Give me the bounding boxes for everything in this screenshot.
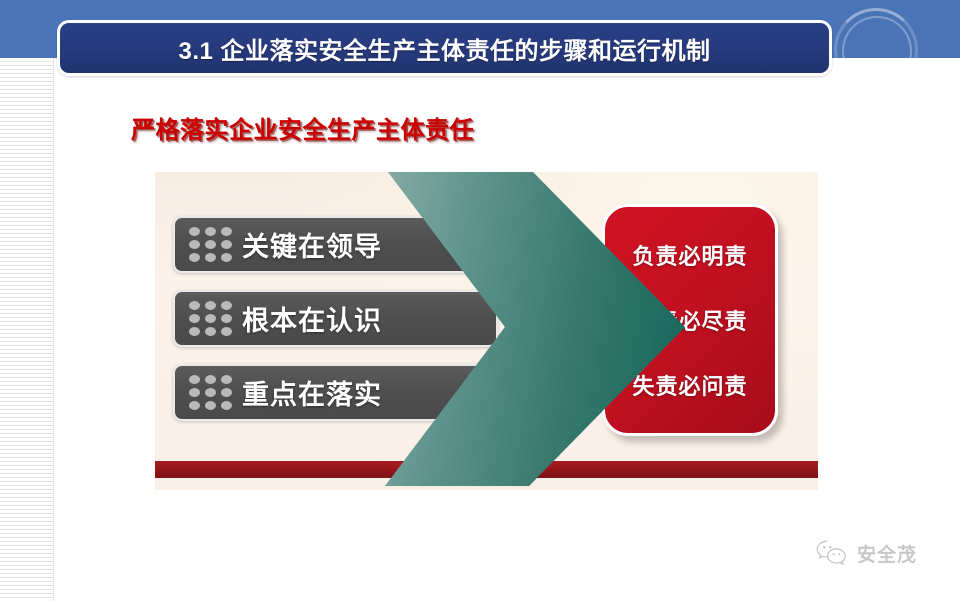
list-item: 关键在领导 (173, 216, 498, 273)
dot (221, 314, 232, 323)
dot (189, 240, 200, 249)
step-label: 关键在领导 (242, 225, 382, 264)
dot (221, 240, 232, 249)
dot (189, 253, 200, 262)
watermark: 安全茂 (815, 539, 917, 567)
dot (221, 375, 232, 384)
dot (189, 327, 200, 336)
dot (205, 301, 216, 310)
diagram-panel: 关键在领导 根本在认识 (155, 172, 818, 490)
dot (189, 388, 200, 397)
dot (205, 327, 216, 336)
slide-title-bar: 3.1 企业落实安全生产主体责任的步骤和运行机制 (57, 20, 832, 76)
dot (221, 388, 232, 397)
step-list: 关键在领导 根本在认识 (173, 216, 498, 438)
step-label: 重点在落实 (242, 373, 382, 412)
dot (221, 301, 232, 310)
dot (221, 253, 232, 262)
dot (205, 227, 216, 236)
dot (205, 240, 216, 249)
dot (189, 375, 200, 384)
arc-decoration-inner-icon (842, 16, 912, 86)
watermark-text: 安全茂 (857, 540, 917, 567)
panel-bottom-bar (155, 461, 818, 478)
page-title: 3.1 企业落实安全生产主体责任的步骤和运行机制 (178, 31, 710, 66)
dot-grid-icon (189, 301, 232, 336)
dot (189, 314, 200, 323)
dot (221, 327, 232, 336)
wechat-icon (815, 539, 849, 567)
list-item: 根本在认识 (173, 290, 498, 347)
left-stripe-edge (53, 58, 54, 601)
dot (205, 253, 216, 262)
left-stripe-decoration (0, 58, 53, 601)
result-line: 失责必问责 (632, 369, 747, 401)
step-label: 根本在认识 (242, 299, 382, 338)
dot (205, 401, 216, 410)
dot (189, 301, 200, 310)
dot (205, 314, 216, 323)
dot (189, 227, 200, 236)
result-line: 负责必明责 (632, 239, 747, 271)
result-line: 履责必尽责 (632, 304, 747, 336)
dot-grid-icon (189, 375, 232, 410)
dot (205, 388, 216, 397)
list-item: 重点在落实 (173, 364, 498, 421)
dot (189, 401, 200, 410)
dot (221, 227, 232, 236)
slide-canvas: 3.1 企业落实安全生产主体责任的步骤和运行机制 严格落实企业安全生产主体责任 (0, 0, 960, 601)
dot (221, 401, 232, 410)
result-card: 负责必明责 履责必尽责 失责必问责 (602, 204, 778, 436)
dot-grid-icon (189, 227, 232, 262)
dot (205, 375, 216, 384)
section-subheading: 严格落实企业安全生产主体责任 (131, 110, 474, 145)
